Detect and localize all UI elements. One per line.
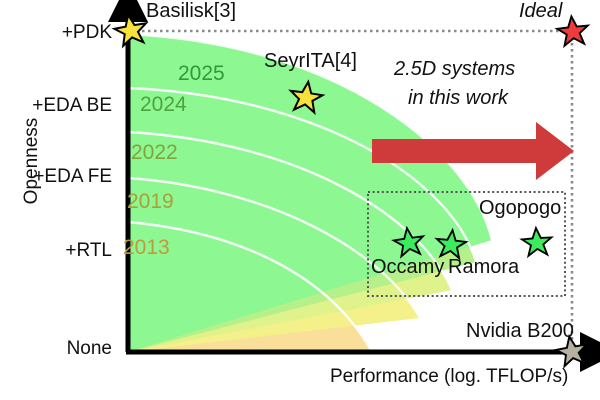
- point-label-ramora: Ramora: [448, 256, 519, 279]
- y-tick-rtl: +RTL: [0, 240, 112, 262]
- marker-ogopogo: [521, 227, 552, 256]
- point-label-seyrita: SeyrITA[4]: [264, 50, 357, 73]
- annotation-line-2: in this work: [408, 87, 508, 110]
- point-label-basilisk: Basilisk[3]: [146, 0, 236, 23]
- band-label-2024: 2024: [140, 93, 187, 117]
- band-label-2022: 2022: [131, 141, 178, 165]
- y-axis-title: Openness: [21, 101, 43, 221]
- x-axis-title: Performance (log. TFLOP/s): [330, 366, 568, 388]
- y-tick-pdk: +PDK: [0, 22, 112, 44]
- y-tick-eda-fe: +EDA FE: [0, 166, 112, 188]
- point-label-ideal: Ideal: [519, 0, 562, 23]
- y-tick-eda-be: +EDA BE: [0, 95, 112, 117]
- point-label-occamy: Occamy: [371, 256, 444, 279]
- y-tick-none: None: [0, 338, 112, 360]
- annotation-line-1: 2.5D systems: [394, 58, 515, 81]
- openness-vs-performance-chart: Openness +PDK +EDA BE +EDA FE +RTL None …: [0, 0, 600, 400]
- band-label-2019: 2019: [127, 190, 174, 214]
- band-label-2013: 2013: [123, 236, 170, 260]
- point-label-ogopogo: Ogopogo: [479, 197, 561, 220]
- band-label-2025: 2025: [178, 62, 225, 86]
- point-label-nvidia-b200: Nvidia B200: [466, 320, 574, 343]
